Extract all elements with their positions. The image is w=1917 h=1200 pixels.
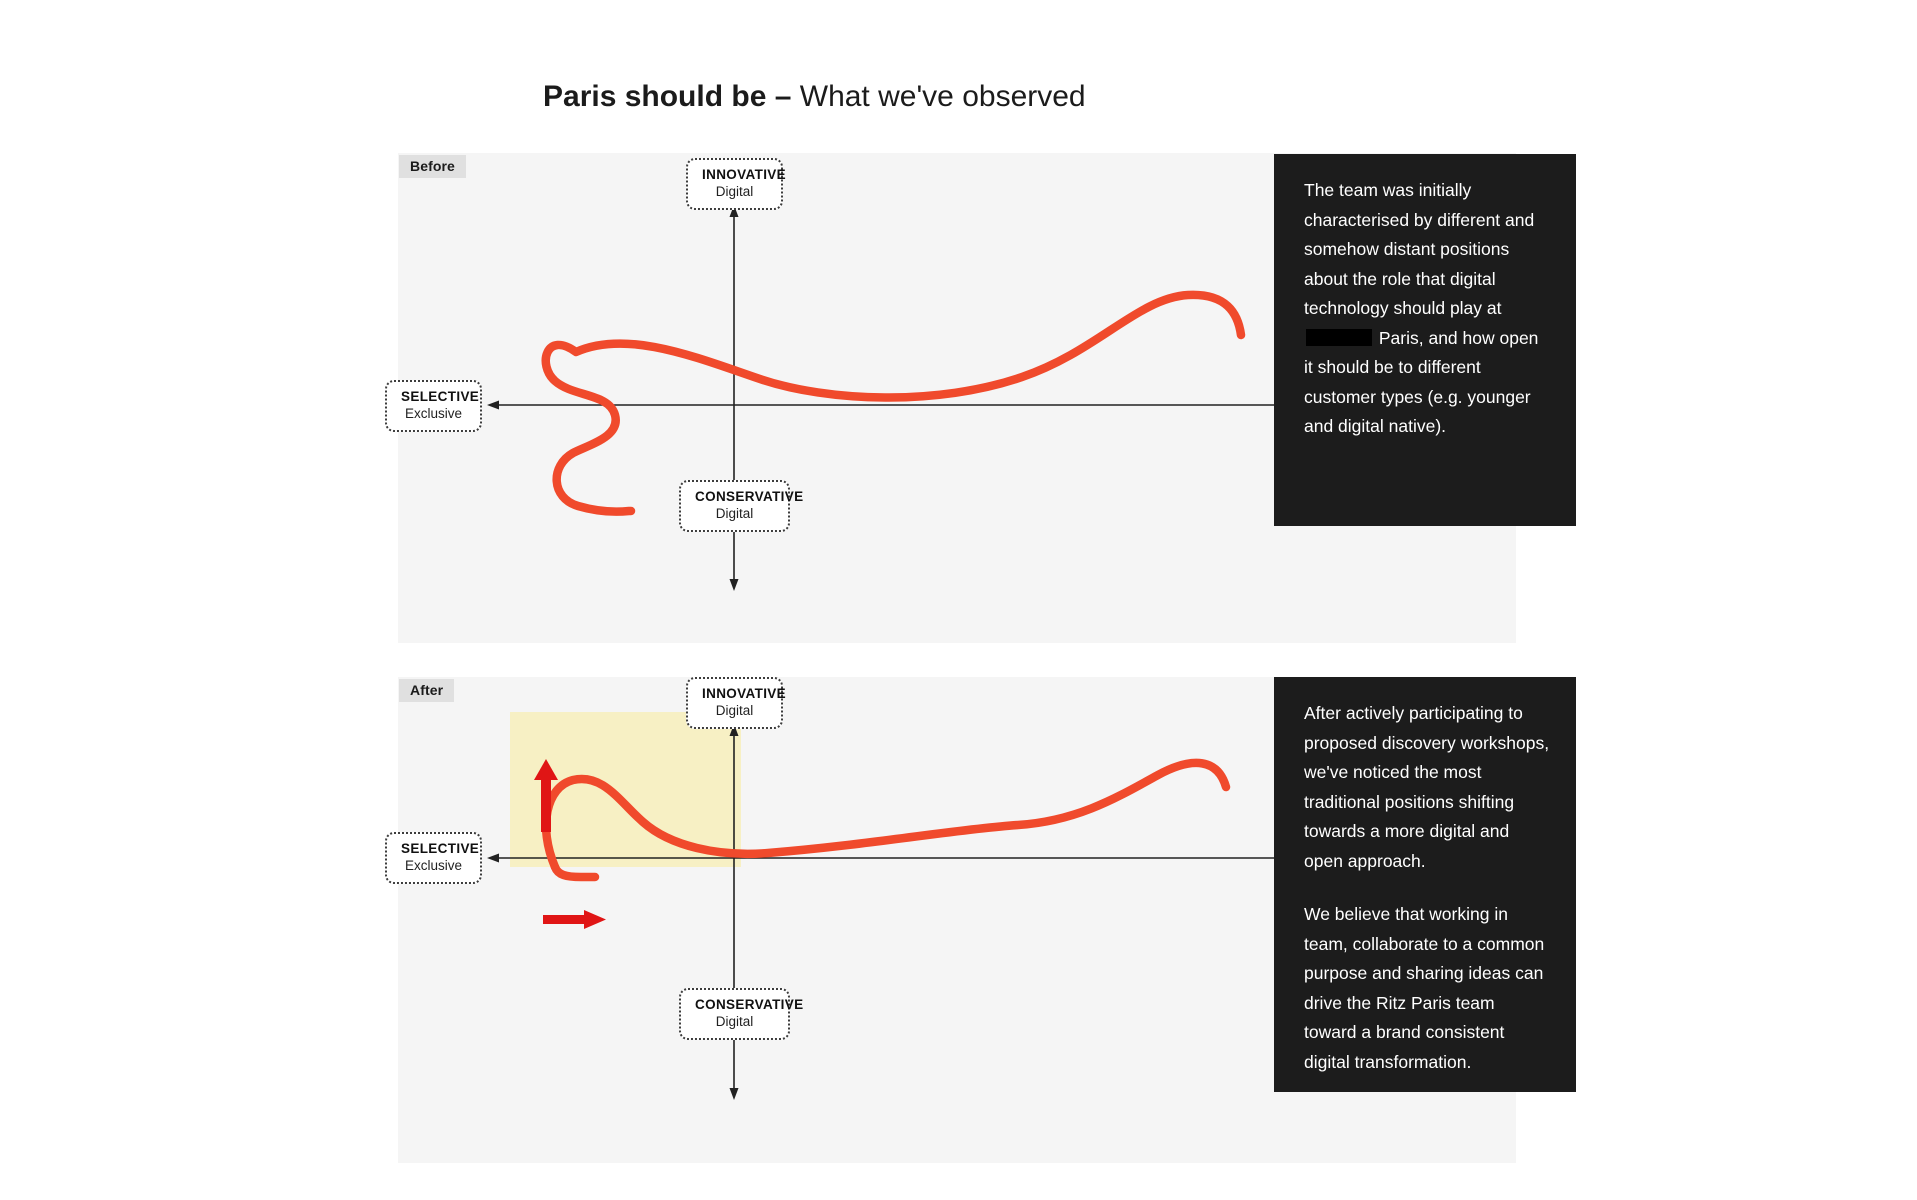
section-badge-before: Before <box>399 155 466 178</box>
note-paragraph-1: After actively participating to proposed… <box>1304 699 1550 876</box>
redaction-bar <box>1306 329 1372 346</box>
axis-label-sub: Exclusive <box>401 406 466 422</box>
axis-label-conservative-before: CONSERVATIVE Digital <box>679 480 790 532</box>
axis-label-selective-after: SELECTIVE Exclusive <box>385 832 482 884</box>
note-paragraph-2: We believe that working in team, collabo… <box>1304 900 1550 1077</box>
axis-label-main: SELECTIVE <box>401 841 466 857</box>
axis-arrow-down <box>730 579 739 591</box>
note-panel-before: The team was initially characterised by … <box>1274 154 1576 526</box>
axis-label-sub: Digital <box>702 703 767 719</box>
axis-label-sub: Digital <box>695 1014 774 1030</box>
axis-label-main: SELECTIVE <box>401 389 466 405</box>
note-text-part-1: The team was initially characterised by … <box>1304 180 1534 318</box>
axis-label-main: INNOVATIVE <box>702 167 767 183</box>
axis-label-selective-before: SELECTIVE Exclusive <box>385 380 482 432</box>
axis-label-sub: Digital <box>702 184 767 200</box>
positions-curve-before <box>546 295 1241 512</box>
axis-arrow-left <box>487 854 499 863</box>
page-title-light: What we've observed <box>800 80 1086 113</box>
axis-label-main: CONSERVATIVE <box>695 489 774 505</box>
axis-label-sub: Digital <box>695 506 774 522</box>
page-title: Paris should be – What we've observed <box>543 78 1086 116</box>
axis-label-main: CONSERVATIVE <box>695 997 774 1013</box>
section-badge-after: After <box>399 679 454 702</box>
shift-arrow-right <box>543 910 606 929</box>
positions-curve-after-tail <box>555 867 595 877</box>
note-panel-after: After actively participating to proposed… <box>1274 677 1576 1092</box>
axis-arrow-left <box>487 401 499 410</box>
page-title-dash: – <box>766 80 799 113</box>
note-paragraph-before: The team was initially characterised by … <box>1304 176 1550 442</box>
axis-label-innovative-after: INNOVATIVE Digital <box>686 677 783 729</box>
axis-arrow-down <box>730 1088 739 1100</box>
axis-label-main: INNOVATIVE <box>702 686 767 702</box>
axis-label-sub: Exclusive <box>401 858 466 874</box>
axis-label-conservative-after: CONSERVATIVE Digital <box>679 988 790 1040</box>
axis-label-innovative-before: INNOVATIVE Digital <box>686 158 783 210</box>
page-title-strong: Paris should be <box>543 80 766 113</box>
